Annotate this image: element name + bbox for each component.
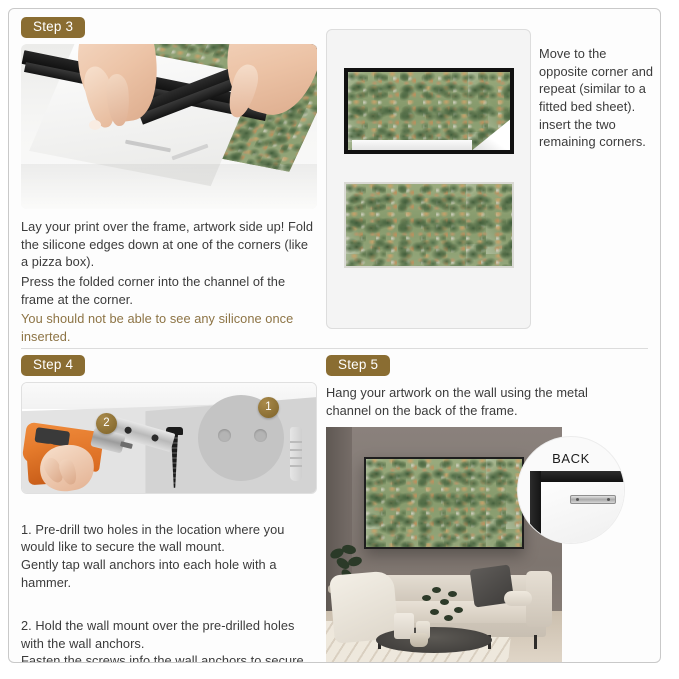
branch-arrangement xyxy=(418,585,462,637)
step5-intro: Hang your artwork on the wall using the … xyxy=(326,384,626,419)
step3-accent-note: You should not be able to see any silico… xyxy=(21,310,317,345)
step5-scene: BACK xyxy=(326,427,562,663)
section-steps-4-5: Step 4 xyxy=(9,349,660,663)
section-step3: Step 3 Lay your print xyxy=(9,9,660,348)
step4-paragraph-1: 1. Pre-drill two holes in the location w… xyxy=(21,521,317,592)
instruction-sheet: Step 3 Lay your print xyxy=(8,8,661,663)
step4-text: 1. Pre-drill two holes in the location w… xyxy=(21,503,317,663)
step3-photo xyxy=(21,44,317,209)
step3-side-card-column xyxy=(326,29,531,329)
artwork-corner-peeled xyxy=(344,68,514,154)
step4-diagram: 1 2 xyxy=(21,382,317,494)
step5-badge: Step 5 xyxy=(326,355,390,376)
bolster-cushion xyxy=(504,591,532,606)
peeled-edge xyxy=(352,140,472,150)
back-label: BACK xyxy=(518,451,624,466)
step4-column: Step 4 xyxy=(21,355,317,663)
step5-column: Step 5 Hang your artwork on the wall usi… xyxy=(326,355,652,663)
wall-anchor xyxy=(290,427,302,481)
metal-channel xyxy=(570,495,616,504)
step3-paragraph-2: Press the folded corner into the channel… xyxy=(21,273,317,308)
step3-side-note: Move to the opposite corner and repeat (… xyxy=(539,45,657,151)
back-detail-callout: BACK xyxy=(518,437,624,543)
artwork-fully-inserted xyxy=(344,182,514,268)
photo-shadow xyxy=(21,164,317,209)
step4-badge: Step 4 xyxy=(21,355,85,376)
step3-badge: Step 3 xyxy=(21,17,85,38)
step4-paragraph-2: 2. Hold the wall mount over the pre-dril… xyxy=(21,617,317,663)
step3-text: Lay your print over the frame, artwork s… xyxy=(21,218,317,346)
step3-side-card xyxy=(326,29,531,329)
hung-artwork xyxy=(364,457,524,549)
step3-column: Step 3 Lay your print xyxy=(21,17,317,346)
step3-paragraph-1: Lay your print over the frame, artwork s… xyxy=(21,218,317,271)
frame-back xyxy=(530,471,624,543)
